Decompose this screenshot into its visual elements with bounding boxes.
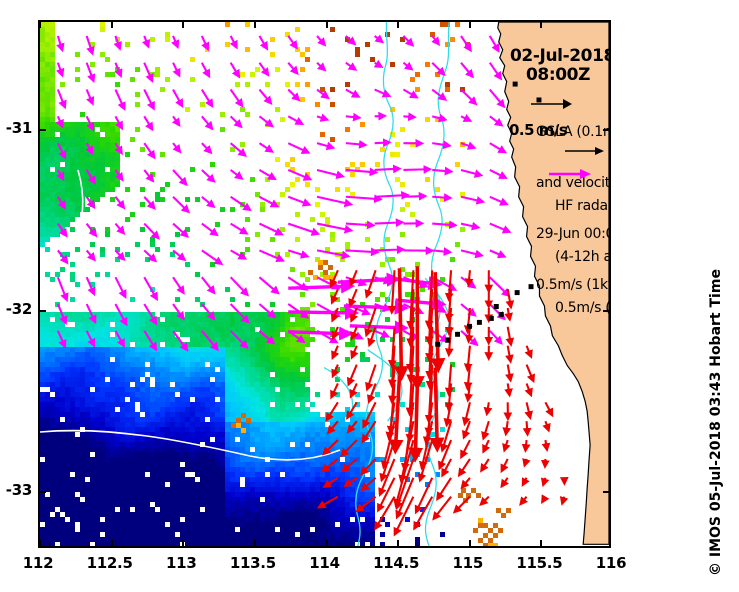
current-vector-arrow [173,197,188,211]
current-vector-arrow [173,250,184,259]
current-vector-arrow [490,90,503,106]
current-vector-arrow [87,224,96,235]
x-axis-tick [254,21,256,28]
hf-radar-station-marker [455,332,460,337]
hf-radar-station-marker [494,304,499,309]
current-vector-arrow [317,250,347,256]
current-vector-arrow [173,63,179,75]
x-axis-tick [39,540,41,547]
current-vector-arrow [455,497,470,512]
current-vector-arrow [362,459,375,473]
current-vector-arrow [469,270,470,284]
y-axis-tick [39,491,46,493]
current-vector-arrow [461,170,480,175]
current-vector-arrow [231,250,245,258]
current-vector-arrow [317,36,324,44]
current-vector-arrow [231,63,239,76]
current-vector-arrow [399,268,401,375]
current-vector-arrow [490,197,506,204]
current-vector-arrow [58,304,66,322]
current-vector-arrow [58,143,65,157]
current-vector-arrow [461,250,481,255]
current-vector-arrow [461,36,470,50]
current-vector-arrow [342,440,356,455]
current-vector-arrow [375,90,389,96]
current-vector-arrow [115,170,121,179]
current-vector-arrow [432,197,449,198]
current-vector-arrow [259,90,270,103]
current-vector-arrow [463,478,470,487]
current-vector-arrow [144,331,155,349]
current-vector-arrow [202,224,216,235]
current-vector-arrow [527,383,531,394]
current-vector-arrow [434,497,451,518]
current-vector-arrow [231,331,247,347]
x-axis-tick-label: 112.5 [87,554,133,572]
current-vector-arrow [333,365,338,376]
current-vector-arrow [87,304,95,321]
current-vector-arrow [375,36,382,41]
current-vector-arrow [395,376,399,449]
current-vector-arrow [508,327,511,344]
current-vector-arrow [173,224,187,236]
current-vector-arrow [461,143,473,147]
current-vector-arrow [490,250,504,256]
current-vector-arrow [490,116,501,124]
current-vector-arrow [461,63,472,76]
current-vector-arrow [432,36,438,43]
current-vector-arrow [144,116,151,128]
current-vector-arrow [259,331,272,343]
current-vector-arrow [432,63,443,74]
current-vector-arrow [375,142,389,143]
current-vector-arrow [348,402,357,417]
current-vector-arrow [115,63,120,75]
current-vector-arrow [490,170,505,177]
current-vector-arrow [403,116,413,117]
current-vector-arrow [202,331,217,349]
current-vector-arrow [358,497,376,511]
current-vector-arrow [144,277,156,298]
current-vector-arrow [288,170,309,179]
current-vector-arrow [173,90,182,105]
x-axis-tick-label: 112 [23,554,53,572]
current-vector-arrow [332,383,338,396]
map-figure: 02-Jul-2018 08:00Z 200m 1000m GSLA (0.1m… [0,0,739,592]
current-vector-arrow [87,170,95,182]
current-vector-arrow [87,250,94,259]
current-vector-arrow [327,402,338,419]
current-vector-arrow [461,224,477,228]
current-vector-arrow [545,421,548,429]
current-vector-arrow [432,90,444,99]
current-vector-arrow [432,116,444,119]
hf-radar-legend-text: HF radar velocity (4-12h avg)noQC 0.5m/s… [555,164,609,351]
current-vector-arrow [465,402,470,423]
current-vector-arrow [173,277,183,292]
current-vector-arrow [563,497,565,503]
map-plot-area[interactable]: 02-Jul-2018 08:00Z 200m 1000m GSLA (0.1m… [38,20,611,548]
current-vector-arrow [331,270,337,285]
x-axis-tick [540,540,542,547]
current-vector-arrow [461,277,474,287]
current-vector-arrow [87,197,94,207]
y-axis-tick-label: -33 [6,481,32,499]
x-axis-tick [397,21,399,28]
current-vector-arrow [144,304,155,322]
current-vector-arrow [490,331,501,343]
current-vector-arrow [58,170,63,178]
current-vector-arrow [370,327,376,344]
current-vector-arrow [87,331,94,345]
current-vector-arrow [415,497,432,528]
current-vector-arrow [508,383,510,394]
current-vector-arrow [144,197,153,208]
time-label: 08:00Z [526,65,590,85]
current-vector-arrow [231,36,236,47]
current-vector-arrow [346,197,380,199]
current-vector-arrow [490,36,498,50]
current-vector-arrow [403,36,411,45]
current-vector-arrow [375,331,388,336]
current-vector-arrow [490,277,508,295]
current-vector-arrow [324,440,338,453]
current-vector-arrow [502,459,508,470]
current-vector-arrow [432,331,446,341]
current-vector-arrow [58,116,62,125]
y-axis-tick-label: -32 [6,300,32,318]
current-vector-arrow [144,90,153,108]
current-vector-arrow [526,440,527,450]
current-vector-arrow [115,36,119,48]
current-vector-arrow [173,331,186,349]
current-vector-arrow [343,459,356,470]
gsla-reference-arrow [564,144,606,158]
current-vector-arrow [259,250,282,260]
current-vector-arrow [508,308,510,319]
x-axis-tick [254,540,256,547]
y-axis-tick-label: -31 [6,119,32,137]
current-vector-arrow [202,63,209,76]
current-vector-arrow [87,36,92,53]
current-vector-arrow [346,143,365,145]
current-vector-arrow [502,478,507,486]
current-vector-arrow [231,277,247,294]
current-vector-arrow [350,289,356,304]
current-vector-arrow [317,63,324,70]
x-axis-tick [182,21,184,28]
current-vector-arrow [115,197,123,207]
x-axis-tick [326,21,328,28]
current-vector-arrow [115,116,121,127]
current-vector-arrow [202,143,210,152]
current-vector-arrow [432,224,454,226]
hf-legend-line-3: 0.5m/s (1kt 6h) [555,300,609,317]
current-vector-arrow [202,250,221,263]
current-vector-arrow [461,116,469,120]
current-vector-arrow [231,170,241,178]
current-vector-arrow [202,36,208,48]
current-vector-arrow [482,459,489,470]
y-axis-tick [39,310,46,312]
current-vector-arrow [87,63,93,80]
current-vector-arrow [527,421,528,433]
current-vector-arrow [527,346,531,356]
x-axis-tick [111,21,113,28]
current-vector-arrow [259,116,271,125]
current-vector-arrow [231,90,242,105]
current-vector-arrow [346,478,357,486]
current-vector-arrow [259,63,267,74]
current-vector-arrow [508,365,511,380]
current-vector-arrow [375,63,381,67]
current-vector-arrow [349,365,357,384]
current-vector-arrow [435,272,438,367]
hf-radar-station-marker [435,342,440,347]
current-vector-arrow [202,277,214,292]
current-vector-arrow [323,459,337,471]
current-vector-arrow [332,289,337,302]
current-vector-arrow [490,143,504,152]
gsla-reference-arrow-top [530,96,574,112]
current-vector-arrow [288,63,296,73]
current-vector-arrow [545,440,546,449]
current-vector-arrow [461,304,474,315]
current-vector-arrow [115,304,125,324]
current-vector-arrow [461,197,482,202]
current-vector-arrow [288,90,298,100]
current-vector-arrow [58,63,62,75]
current-vector-arrow [115,250,123,258]
x-axis-tick [469,21,471,28]
current-vector-arrow [346,250,376,252]
current-vector-arrow [432,250,449,252]
current-vector-arrow [231,224,246,233]
y-axis-tick [603,491,610,493]
current-vector-arrow [527,402,530,416]
x-axis-tick [397,540,399,547]
hf-radar-station-marker [529,284,534,289]
current-vector-arrow [432,143,448,145]
x-axis-tick-label: 113 [166,554,196,572]
current-vector-arrow [115,224,123,233]
current-vector-arrow [115,143,121,152]
y-axis-tick [603,129,610,131]
current-vector-arrow [403,90,416,97]
current-vector-arrow [432,170,450,171]
current-vector-arrow [352,346,356,357]
current-vector-arrow [231,116,241,126]
current-vector-arrow [469,327,470,341]
current-vector-arrow [115,90,123,108]
current-vector-arrow [288,143,307,152]
current-vector-arrow [484,440,489,451]
copyright-notice: © IMOS 05-Jul-2018 03:43 Hobart Time [708,269,724,576]
current-vector-arrow [435,368,437,447]
current-vector-arrow [317,116,326,119]
hf-radar-station-marker [489,316,494,321]
current-vector-arrow [545,402,551,414]
current-vector-arrow [346,90,358,97]
current-vector-arrow [438,478,451,498]
y-axis-tick [39,129,46,131]
current-vector-arrow [231,304,248,321]
current-vector-arrow [482,497,489,504]
current-vector-arrow [403,63,411,69]
current-vector-arrow [346,36,354,43]
x-axis-tick-label: 115.5 [516,554,562,572]
current-vector-arrow [202,170,213,181]
current-vector-arrow [87,116,93,128]
hf-radar-station-marker [515,290,520,295]
current-vector-arrow [144,63,151,80]
current-vector-arrow [58,331,65,346]
current-vector-arrow [416,478,432,511]
current-vector-arrow [231,143,245,155]
current-vector-arrow [58,250,67,261]
x-axis-tick [111,540,113,547]
x-axis-tick-label: 115 [453,554,483,572]
current-vector-arrow [344,306,404,308]
hf-legend-line-1: HF radar velocity [555,198,609,215]
current-vector-arrow [115,331,123,345]
x-axis-tick [540,21,542,28]
current-vector-arrow [144,143,153,157]
current-vector-arrow [144,170,152,180]
current-vector-arrow [288,286,350,288]
current-vector-arrow [144,36,148,46]
current-vector-arrow [320,497,338,507]
current-vector-arrow [375,222,402,223]
current-vector-arrow [443,459,451,475]
current-vector-arrow [288,224,317,234]
current-vector-arrow [402,421,414,480]
current-vector-arrow [259,197,276,206]
current-vector-arrow [58,90,65,107]
current-vector-arrow [87,277,94,293]
current-vector-arrow [288,332,348,334]
date-label: 02-Jul-2018 [510,46,609,66]
current-vector-arrow [490,63,500,78]
current-vector-arrow [346,63,355,69]
current-vector-arrow [202,116,212,127]
current-vector-arrow [367,270,376,295]
current-vector-arrow [523,478,526,484]
hf-radar-station-marker [499,312,504,317]
current-vector-arrow [288,250,306,256]
x-axis-tick [469,540,471,547]
current-vector-arrow [403,169,429,170]
current-vector-arrow [173,304,183,318]
current-vector-arrow [173,170,186,184]
current-vector-arrow [259,36,266,48]
current-vector-arrow [87,143,92,152]
current-vector-arrow [329,421,338,432]
current-vector-arrow [521,497,526,504]
current-vector-arrow [325,478,338,486]
current-vector-arrow [543,497,546,501]
current-vector-arrow [231,197,249,210]
current-vector-arrow [490,224,509,232]
current-vector-arrow [115,277,124,296]
current-vector-arrow [396,440,413,504]
x-axis-tick-label: 114.5 [373,554,419,572]
current-vector-arrow [317,90,327,98]
x-axis-tick [182,540,184,547]
current-vector-arrow [58,224,66,235]
current-vector-arrow [525,459,527,465]
current-vector-arrow [508,289,511,306]
current-vector-arrow [333,346,338,357]
current-vector-arrow [317,197,350,204]
current-vector-arrow [288,116,301,123]
reference-vector-label: 0.5 m/s [509,121,567,139]
gsla-vectors [58,36,509,349]
x-axis-tick-label: 113.5 [230,554,276,572]
current-vector-arrow [363,478,376,489]
current-vector-layer [40,22,609,546]
current-vector-arrow [403,196,424,197]
current-vector-arrow [415,385,417,456]
current-vector-arrow [173,36,177,46]
x-axis-tick-label: 116 [596,554,626,572]
current-vector-arrow [375,250,403,251]
current-vector-arrow [259,170,274,179]
current-vector-arrow [317,224,350,231]
hf-radar-station-marker [477,320,482,325]
x-axis-tick-label: 114 [309,554,339,572]
current-vector-arrow [58,277,67,299]
hf-radar-station-marker [513,82,518,87]
current-vector-arrow [508,346,511,361]
current-vector-arrow [58,36,62,49]
current-vector-arrow [375,195,407,197]
hf-legend-line-2: (4-12h avg)noQC [555,249,609,266]
current-vector-arrow [375,169,399,170]
current-vector-arrow [351,383,356,395]
current-vector-arrow [376,497,395,528]
current-vector-arrow [346,224,373,226]
hf-radar-station-marker [467,324,472,329]
current-vector-arrow [544,478,546,484]
x-axis-tick [39,21,41,28]
current-vector-arrow [461,90,475,104]
current-vector-arrow [87,90,93,103]
current-vector-arrow [317,143,332,147]
current-vector-arrow [462,440,470,456]
hf-radar-station-marker [445,338,450,343]
current-vector-arrow [259,143,271,151]
current-vector-arrow [506,421,508,433]
current-vector-arrow [317,170,342,176]
current-vector-arrow [349,421,357,431]
current-vector-arrow [487,402,489,413]
current-vector-arrow [288,197,308,205]
current-vector-arrow [202,90,212,106]
current-vector-arrow [144,224,157,238]
current-vector-arrow [173,116,179,124]
current-vector-arrow [369,383,375,400]
current-vector-arrow [527,365,533,380]
current-vector-arrow [202,304,214,318]
current-vector-arrow [392,270,395,311]
current-vector-arrow [259,277,277,292]
current-vector-arrow [259,224,280,234]
current-vector-arrow [288,312,354,313]
current-vector-arrow [346,170,375,172]
map-canvas: 02-Jul-2018 08:00Z 200m 1000m GSLA (0.1m… [40,22,609,546]
current-vector-arrow [505,440,508,449]
